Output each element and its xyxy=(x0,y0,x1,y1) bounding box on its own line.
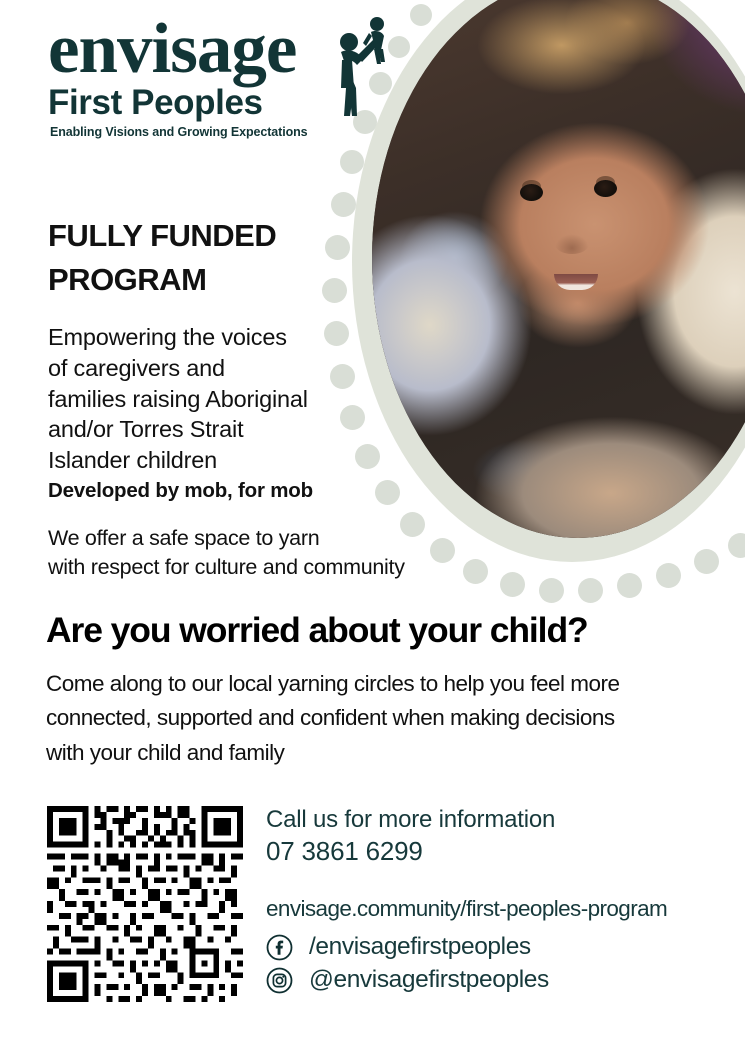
lead-paragraph: Empowering the voices of caregivers and … xyxy=(48,322,358,476)
photo-detail-nose xyxy=(555,234,589,254)
safe-space-line: with respect for culture and community xyxy=(48,553,488,582)
decor-dot xyxy=(500,572,525,597)
website-url[interactable]: envisage.community/first-peoples-program xyxy=(266,896,726,922)
decor-dot xyxy=(410,4,432,26)
decor-dot xyxy=(656,563,681,588)
decor-dot xyxy=(355,444,380,469)
decor-dot xyxy=(388,36,410,58)
developed-by-statement: Developed by mob, for mob xyxy=(48,479,313,503)
page-headline: FULLY FUNDED PROGRAM xyxy=(48,214,348,302)
lead-line: families raising Aboriginal xyxy=(48,384,358,415)
decor-dot xyxy=(340,150,364,174)
decor-dot xyxy=(617,573,642,598)
facebook-row[interactable]: /envisagefirstpeoples xyxy=(266,933,726,961)
question-heading: Are you worried about your child? xyxy=(46,611,588,650)
flyer-page: envisage First Peoples Enabling Visions … xyxy=(0,0,745,1059)
hero-photo-image xyxy=(372,0,745,538)
body-copy-line: connected, supported and confident when … xyxy=(46,701,696,735)
decor-dot xyxy=(728,533,745,558)
brand-subname: First Peoples xyxy=(48,85,308,120)
headline-line-2: PROGRAM xyxy=(48,258,348,302)
decor-dot xyxy=(375,480,400,505)
lead-line: and/or Torres Strait xyxy=(48,414,358,445)
call-prompt: Call us for more information xyxy=(266,806,726,834)
facebook-handle: /envisagefirstpeoples xyxy=(309,933,531,961)
lead-line: of caregivers and xyxy=(48,353,358,384)
decor-dot xyxy=(578,578,603,603)
facebook-icon xyxy=(266,934,293,961)
brand-logo: envisage First Peoples Enabling Visions … xyxy=(48,16,308,139)
contact-block: Call us for more information 07 3861 629… xyxy=(266,806,726,994)
decor-dot xyxy=(694,549,719,574)
body-copy: Come along to our local yarning circles … xyxy=(46,667,696,770)
decor-dot xyxy=(539,578,564,603)
photo-detail-mouth xyxy=(554,274,598,290)
safe-space-statement: We offer a safe space to yarn with respe… xyxy=(48,524,488,582)
sage-ring xyxy=(352,0,745,562)
qr-code[interactable] xyxy=(47,806,243,1002)
photo-detail-eye-right xyxy=(594,180,617,197)
instagram-icon xyxy=(266,967,293,994)
body-copy-line: with your child and family xyxy=(46,736,696,770)
adult-lifting-child-icon xyxy=(329,12,389,127)
photo-detail-eye-left xyxy=(520,184,543,201)
safe-space-line: We offer a safe space to yarn xyxy=(48,524,488,553)
brand-wordmark: envisage xyxy=(48,16,308,83)
brand-tagline: Enabling Visions and Growing Expectation… xyxy=(50,126,308,139)
hero-photo xyxy=(372,0,745,538)
headline-line-1: FULLY FUNDED xyxy=(48,214,348,258)
instagram-handle: @envisagefirstpeoples xyxy=(309,966,549,994)
instagram-row[interactable]: @envisagefirstpeoples xyxy=(266,966,726,994)
lead-line: Islander children xyxy=(48,445,358,476)
lead-line: Empowering the voices xyxy=(48,322,358,353)
phone-number[interactable]: 07 3861 6299 xyxy=(266,835,726,869)
body-copy-line: Come along to our local yarning circles … xyxy=(46,667,696,701)
